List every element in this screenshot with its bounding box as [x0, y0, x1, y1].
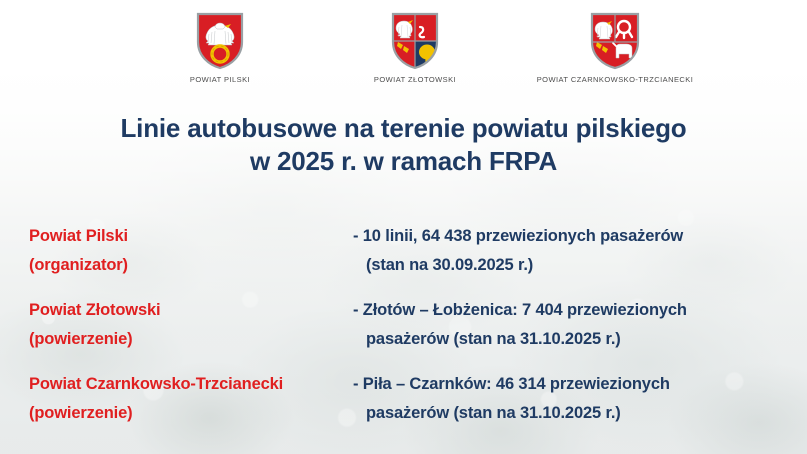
shield-czarnkowsko-trzcianecki-icon: [589, 12, 641, 70]
slide-title-line-2: w 2025 r. w ramach FRPA: [0, 145, 807, 178]
row-detail: - Piła – Czarnków: 46 314 przewiezionych…: [353, 370, 798, 428]
row-detail-line-1: - 10 linii, 64 438 przewiezionych pasaże…: [353, 227, 683, 245]
row-detail-line-1: - Złotów – Łobżenica: 7 404 przewieziony…: [353, 301, 687, 319]
row-powiat-zlotowski: Powiat Złotowski (powierzenie) - Złotów …: [0, 296, 807, 370]
row-detail-line-2: (stan na 30.09.2025 r.): [353, 251, 798, 280]
row-detail: - 10 linii, 64 438 przewiezionych pasaże…: [353, 222, 798, 280]
row-label: Powiat Złotowski (powierzenie): [29, 296, 349, 354]
row-label-line-1: Powiat Złotowski: [29, 296, 349, 325]
row-label-line-1: Powiat Pilski: [29, 222, 349, 251]
row-label-line-2: (powierzenie): [29, 325, 349, 354]
row-label-line-1: Powiat Czarnkowsko-Trzcianecki: [29, 370, 349, 399]
row-label: Powiat Czarnkowsko-Trzcianecki (powierze…: [29, 370, 349, 428]
slide-content: POWIAT PILSKI: [0, 0, 807, 454]
crest-caption: POWIAT CZARNKOWSKO-TRZCIANECKI: [495, 75, 735, 84]
row-detail: - Złotów – Łobżenica: 7 404 przewieziony…: [353, 296, 798, 354]
presentation-slide: POWIAT PILSKI: [0, 0, 807, 454]
row-label-line-2: (organizator): [29, 251, 349, 280]
row-detail-line-1: - Piła – Czarnków: 46 314 przewiezionych: [353, 375, 670, 393]
shield-zlotowski-icon: [390, 12, 440, 70]
shield-pilski-icon: [195, 12, 245, 70]
row-powiat-pilski: Powiat Pilski (organizator) - 10 linii, …: [0, 222, 807, 296]
information-rows: Powiat Pilski (organizator) - 10 linii, …: [0, 222, 807, 444]
row-label: Powiat Pilski (organizator): [29, 222, 349, 280]
slide-title: Linie autobusowe na terenie powiatu pils…: [0, 112, 807, 178]
row-label-line-2: (powierzenie): [29, 399, 349, 428]
row-detail-line-2: pasażerów (stan na 31.10.2025 r.): [353, 399, 798, 428]
coat-of-arms-row: POWIAT PILSKI: [0, 12, 807, 96]
crest-powiat-czarnkowsko-trzcianecki: POWIAT CZARNKOWSKO-TRZCIANECKI: [495, 12, 735, 84]
slide-title-line-1: Linie autobusowe na terenie powiatu pils…: [0, 112, 807, 145]
row-powiat-czarnkowsko-trzcianecki: Powiat Czarnkowsko-Trzcianecki (powierze…: [0, 370, 807, 444]
row-detail-line-2: pasażerów (stan na 31.10.2025 r.): [353, 325, 798, 354]
